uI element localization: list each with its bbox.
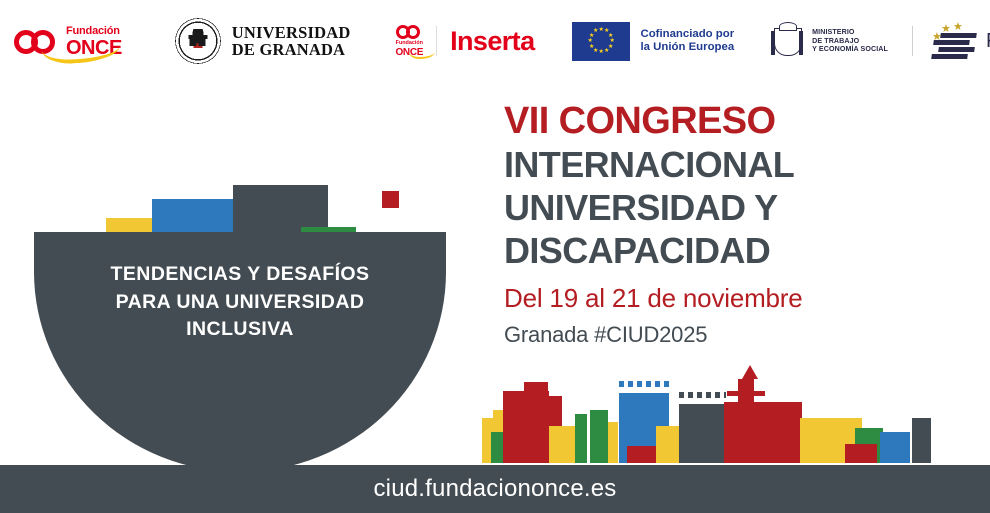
inserta-once-line1: Fundación: [396, 41, 423, 46]
ministerio-wordmark: MINISTERIO DE TRABAJO Y ECONOMÍA SOCIAL: [812, 28, 888, 55]
fundacion-once-swoosh-icon: [42, 46, 121, 65]
skyline-building: [845, 444, 877, 463]
skyline-building: [880, 432, 910, 463]
congress-emblem: TENDENCIAS Y DESAFÍOS PARA UNA UNIVERSID…: [0, 86, 480, 386]
eu-line1: Cofinanciado por: [640, 28, 734, 41]
ugr-line2: DE GRANADA: [232, 41, 351, 58]
emblem-tagline-line-3: INCLUSIVA: [34, 316, 446, 344]
logo-fondos-europeos[interactable]: ★★★ Fondos Europeos: [930, 22, 990, 60]
skyline-building: [575, 414, 587, 463]
ministerio-line1: MINISTERIO: [812, 28, 888, 37]
congress-title-line-4: DISCAPACIDAD: [504, 229, 974, 272]
granada-skyline-illustration: [480, 360, 990, 470]
skyline-building: [912, 418, 931, 463]
logo-inserta[interactable]: Fundación ONCE Inserta: [395, 24, 534, 57]
emblem-block: [382, 191, 399, 208]
inserta-divider: [436, 26, 437, 56]
inserta-swoosh-icon: [409, 52, 435, 59]
logo-cofinanciado-union-europea[interactable]: ★★★★★★★★★★★★ Cofinanciado por la Unión E…: [572, 22, 734, 61]
inserta-brand-label: Inserta: [450, 26, 534, 57]
fondos-europeos-bars-icon: ★★★: [930, 22, 976, 60]
skyline-building: [679, 404, 726, 463]
ugr-wordmark: UNIVERSIDAD DE GRANADA: [232, 24, 351, 59]
logo-fundacion-once[interactable]: Fundación ONCE: [14, 24, 122, 58]
skyline-crenellation: [619, 381, 669, 387]
emblem-tagline-line-2: PARA UNA UNIVERSIDAD: [34, 289, 446, 317]
logo-ministerio-trabajo[interactable]: MINISTERIO DE TRABAJO Y ECONOMÍA SOCIAL: [770, 22, 913, 60]
skyline-building: [627, 446, 659, 463]
skyline-building: [724, 402, 802, 463]
fundacion-once-line1: Fundación: [66, 26, 122, 37]
congress-dates: Del 19 al 21 de noviembre: [504, 283, 974, 314]
skyline-building: [608, 422, 618, 463]
logo-universidad-de-granada[interactable]: UNIVERSIDAD DE GRANADA: [175, 18, 351, 64]
spain-coat-of-arms-icon: [770, 22, 804, 60]
emblem-bowl-shape: TENDENCIAS Y DESAFÍOS PARA UNA UNIVERSID…: [34, 232, 446, 472]
ugr-line1: UNIVERSIDAD: [232, 24, 351, 41]
sponsor-logo-strip: Fundación ONCE UNIVERSIDAD DE GRANADA Fu…: [0, 0, 990, 82]
skyline-building: [524, 382, 548, 463]
skyline-crenellation: [679, 392, 726, 398]
eu-line2: la Unión Europea: [640, 41, 734, 54]
european-union-flag-icon: ★★★★★★★★★★★★: [572, 22, 630, 61]
congress-title-block: VII CONGRESO INTERNACIONAL UNIVERSIDAD Y…: [504, 100, 974, 349]
ministerio-divider: [912, 26, 913, 56]
skyline-building: [549, 426, 575, 463]
ministerio-line3: Y ECONOMÍA SOCIAL: [812, 45, 888, 54]
emblem-tagline: TENDENCIAS Y DESAFÍOS PARA UNA UNIVERSID…: [34, 261, 446, 344]
inserta-rings-icon: [396, 24, 423, 40]
congress-edition: VII CONGRESO: [504, 100, 974, 143]
cathedral-spire: [742, 365, 758, 379]
congress-website-url[interactable]: ciud.fundaciononce.es: [373, 475, 616, 503]
ugr-seal-icon: [175, 18, 221, 64]
inserta-once-mark: Fundación ONCE: [395, 24, 423, 57]
cathedral-crossbar: [727, 391, 765, 396]
eu-wordmark: Cofinanciado por la Unión Europea: [640, 28, 734, 54]
congress-banner: Fundación ONCE UNIVERSIDAD DE GRANADA Fu…: [0, 0, 990, 513]
emblem-tagline-line-1: TENDENCIAS Y DESAFÍOS: [34, 261, 446, 289]
footer-bar: ciud.fundaciononce.es: [0, 465, 990, 513]
congress-place-hashtag: Granada #CIUD2025: [504, 322, 974, 348]
skyline-building: [590, 410, 608, 463]
congress-title-line-3: UNIVERSIDAD Y: [504, 186, 974, 229]
congress-title-line-2: INTERNACIONAL: [504, 143, 974, 186]
fondos-europeos-label: Fondos Europeos: [986, 30, 990, 53]
